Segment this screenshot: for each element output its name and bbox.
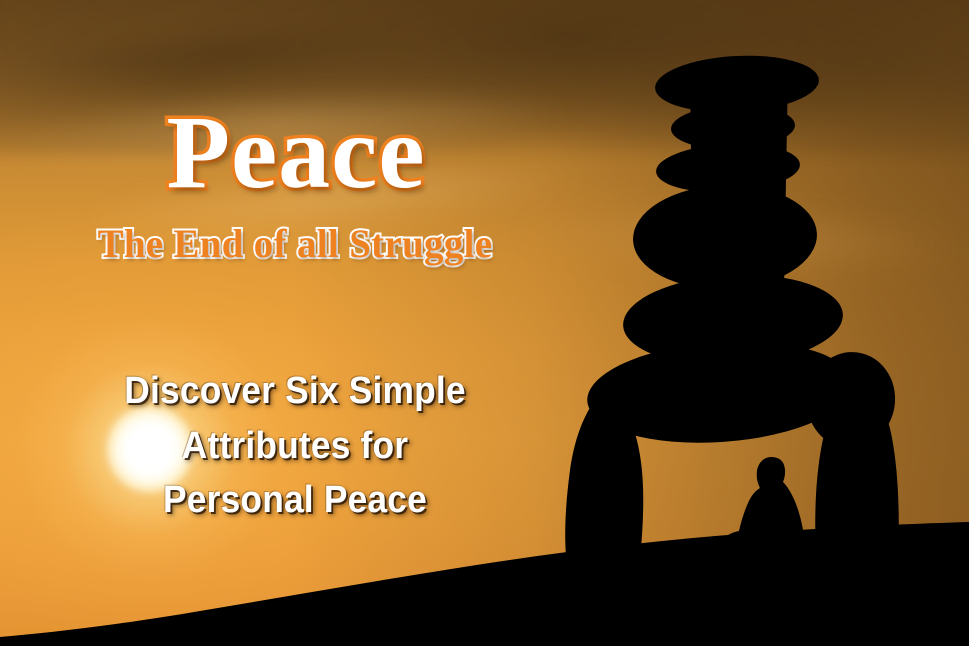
cairn-stack-neck — [690, 70, 788, 400]
poster-canvas: Peace The End of all Struggle Discover S… — [0, 0, 969, 646]
tagline-line-2: Attributes for — [21, 419, 570, 474]
tagline-line-3: Personal Peace — [21, 473, 570, 528]
ground-ridge-silhouette — [0, 522, 969, 646]
silhouette-artwork — [0, 0, 969, 646]
page-title: Peace — [0, 98, 592, 207]
poster-subtitle: The End of all Struggle — [9, 222, 581, 266]
tagline-line-1: Discover Six Simple — [21, 364, 570, 419]
poster-tagline: Discover Six Simple Attributes for Perso… — [21, 364, 570, 528]
